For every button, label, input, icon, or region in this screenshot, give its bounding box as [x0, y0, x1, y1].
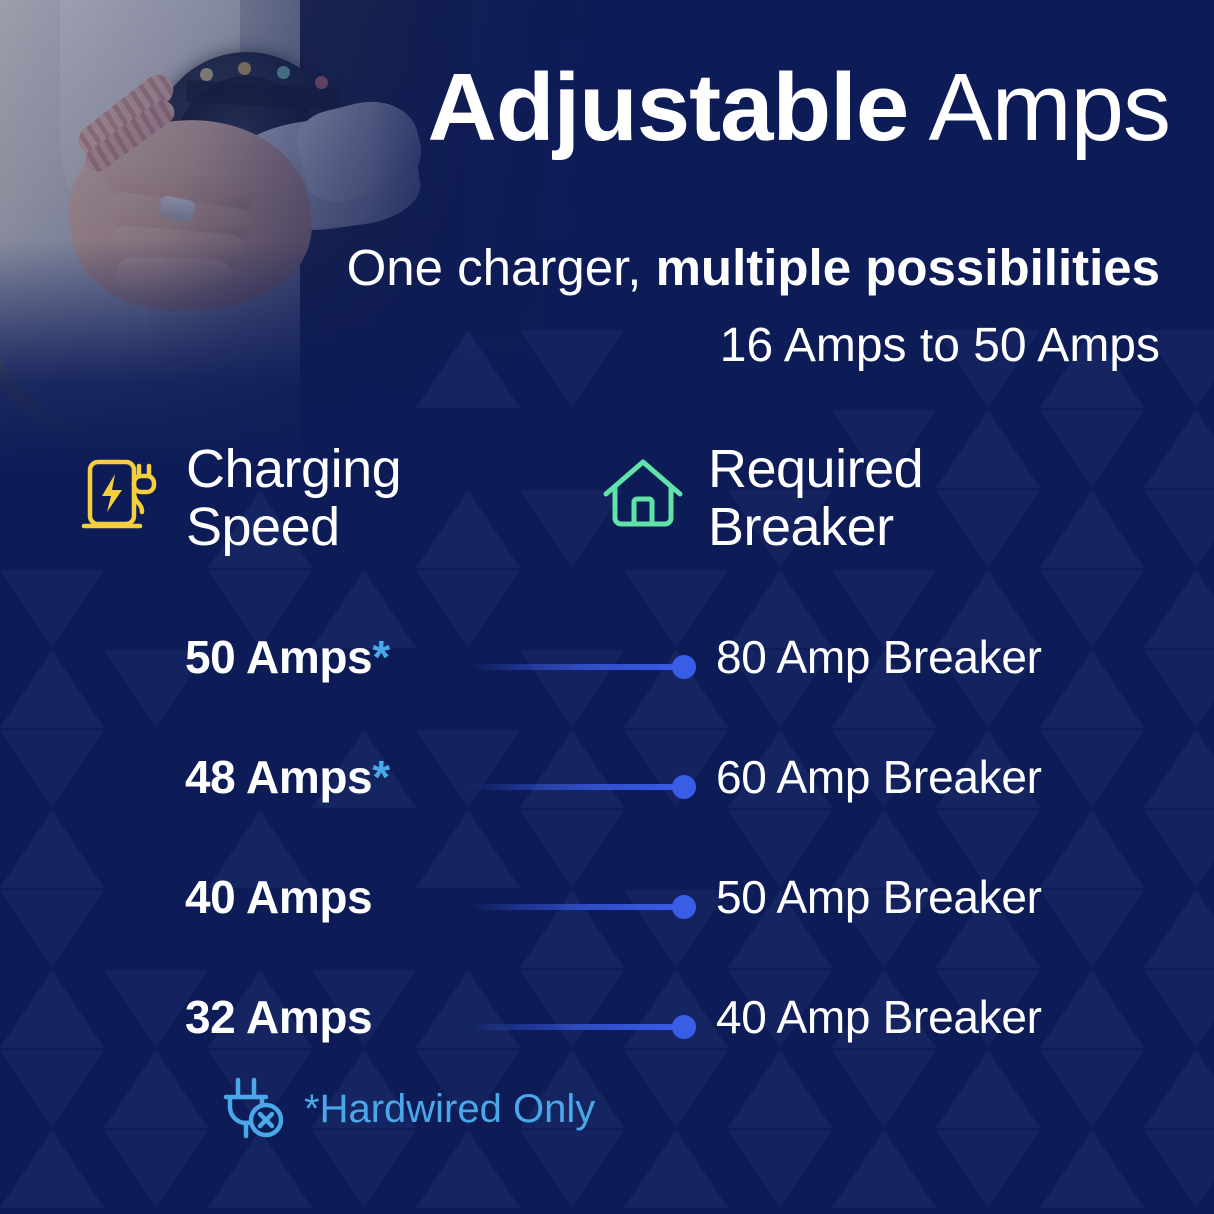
title-bold: Adjustable — [428, 54, 909, 161]
decorative-triangle — [1144, 1130, 1214, 1208]
charging-speed-value: 50 Amps* — [185, 630, 390, 684]
subtitle-bold: multiple possibilities — [656, 239, 1160, 296]
table-row: 40 Amps50 Amp Breaker — [0, 854, 1214, 974]
connector-dot — [672, 775, 696, 799]
page-title: Adjustable Amps — [0, 60, 1170, 156]
required-breaker-value: 40 Amp Breaker — [716, 990, 1042, 1044]
decorative-triangle — [1144, 410, 1214, 488]
connector-dot — [672, 655, 696, 679]
required-breaker-value: 50 Amp Breaker — [716, 870, 1042, 924]
connector-dot — [672, 895, 696, 919]
subtitle-range: 16 Amps to 50 Amps — [0, 318, 1160, 373]
decorative-triangle — [1040, 490, 1144, 568]
table-row: 48 Amps*60 Amp Breaker — [0, 734, 1214, 854]
house-icon — [600, 452, 686, 543]
decorative-triangle — [104, 1130, 208, 1208]
ev-charging-station-icon — [78, 452, 164, 543]
column-label-charging-speed: Charging Speed — [186, 440, 401, 557]
table-row: 50 Amps*80 Amp Breaker — [0, 614, 1214, 734]
decorative-triangle — [832, 1130, 936, 1208]
hardwired-asterisk: * — [372, 751, 390, 803]
subtitle-light: One charger, — [347, 239, 656, 296]
column-header-required-breaker: Required Breaker — [600, 440, 923, 557]
connector-line — [470, 664, 686, 670]
decorative-triangle — [728, 1130, 832, 1208]
decorative-triangle — [1144, 490, 1214, 568]
decorative-triangle — [936, 490, 1040, 568]
decorative-triangle — [1040, 1130, 1144, 1208]
subtitle: One charger, multiple possibilities — [0, 240, 1160, 296]
charging-speed-value: 40 Amps — [185, 870, 372, 924]
charging-speed-value: 48 Amps* — [185, 750, 390, 804]
footnote: *Hardwired Only — [216, 1072, 595, 1147]
decorative-triangle — [416, 490, 520, 568]
column-label-required-breaker: Required Breaker — [708, 440, 923, 557]
no-plug-icon — [216, 1072, 286, 1147]
required-breaker-value: 60 Amp Breaker — [716, 750, 1042, 804]
hardwired-asterisk: * — [372, 631, 390, 683]
footnote-text: *Hardwired Only — [304, 1087, 595, 1132]
column-header-charging-speed: Charging Speed — [78, 440, 401, 557]
decorative-triangle — [936, 410, 1040, 488]
required-breaker-value: 80 Amp Breaker — [716, 630, 1042, 684]
decorative-triangle — [624, 1130, 728, 1208]
title-regular: Amps — [908, 54, 1170, 161]
decorative-triangle — [0, 1130, 104, 1208]
amps-breaker-table: 50 Amps*80 Amp Breaker48 Amps*60 Amp Bre… — [0, 614, 1214, 1094]
table-row: 32 Amps40 Amp Breaker — [0, 974, 1214, 1094]
connector-line — [470, 1024, 686, 1030]
infographic-canvas: Adjustable Amps One charger, multiple po… — [0, 0, 1214, 1214]
connector-line — [470, 784, 686, 790]
connector-line — [470, 904, 686, 910]
decorative-triangle — [936, 1130, 1040, 1208]
charging-speed-value: 32 Amps — [185, 990, 372, 1044]
decorative-triangle — [1040, 410, 1144, 488]
connector-dot — [672, 1015, 696, 1039]
